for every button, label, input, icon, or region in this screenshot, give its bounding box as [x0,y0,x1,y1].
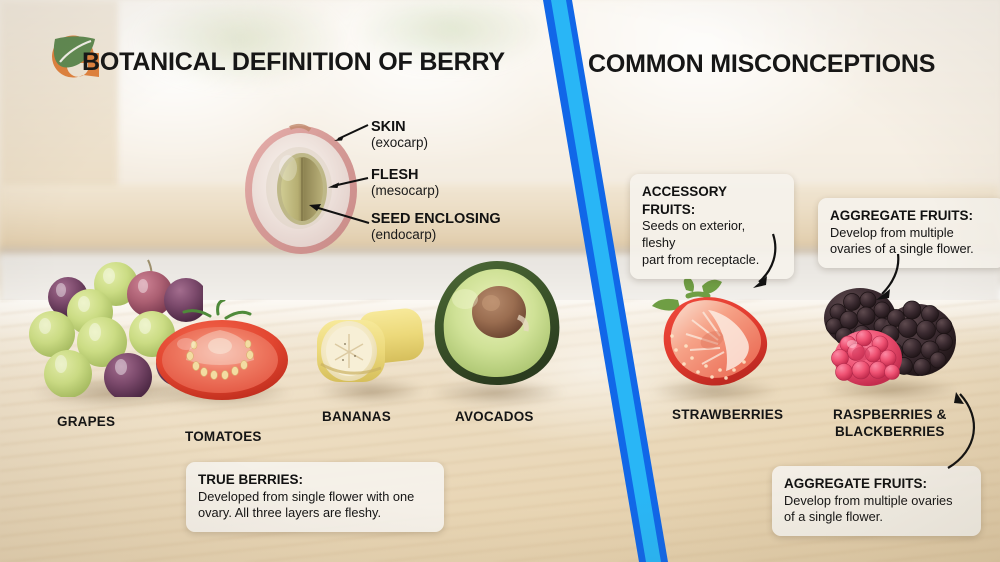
card-true-berries-line-1: Developed from single flower with one [198,489,432,506]
banana-pieces [315,298,430,393]
card-true-berries-heading: TRUE BERRIES: [198,471,432,489]
anatomy-flesh-title: FLESH [371,168,439,183]
page-title-left: BOTANICAL DEFINITION OF BERRY [82,48,505,77]
card-true-berries-line-2: ovary. All three layers are fleshy. [198,505,432,522]
arrow-aggregate-bottom-to-berries [930,390,990,472]
anatomy-arrow-seed [303,198,371,226]
anatomy-arrow-flesh [322,175,370,191]
fruit-label-grapes: GRAPES [57,414,115,431]
card-accessory-fruits-heading: ACCESSORY FRUITS: [642,183,782,218]
anatomy-seed-sub: (endocarp) [371,227,501,243]
fruit-label-bananas: BANANAS [322,409,391,426]
card-aggregate-fruits-bottom: AGGREGATE FRUITS: Develop from multiple … [772,466,981,536]
anatomy-label-seed: SEED ENCLOSING (endocarp) [371,212,501,243]
fruit-label-strawberries: STRAWBERRIES [672,407,783,424]
tomato-half [150,300,295,400]
page-title-right: COMMON MISCONCEPTIONS [588,50,935,79]
strawberry-half [648,278,793,396]
avocado-half [425,255,570,390]
fruit-label-avocados: AVOCADOS [455,409,534,426]
anatomy-arrow-skin [330,122,370,144]
anatomy-label-flesh: FLESH (mesocarp) [371,168,439,199]
card-true-berries: TRUE BERRIES: Developed from single flow… [186,462,444,532]
infographic-canvas: SKIN (exocarp) FLESH (mesocarp) SEED ENC… [0,0,1000,562]
arrow-aggregate-to-blackberry [862,252,910,304]
arrow-accessory-to-strawberry [735,232,785,294]
card-aggregate-top-line-2: ovaries of a single flower. [830,241,993,258]
anatomy-label-skin: SKIN (exocarp) [371,120,428,151]
card-aggregate-bottom-line-1: Develop from multiple ovaries [784,493,969,510]
card-aggregate-bottom-line-2: of a single flower. [784,509,969,526]
anatomy-skin-title: SKIN [371,120,428,135]
card-aggregate-top-line-1: Develop from multiple [830,225,993,242]
anatomy-flesh-sub: (mesocarp) [371,183,439,199]
card-aggregate-bottom-heading: AGGREGATE FRUITS: [784,475,969,493]
fruit-label-tomatoes: TOMATOES [185,429,262,446]
card-aggregate-top-heading: AGGREGATE FRUITS: [830,207,993,225]
anatomy-skin-sub: (exocarp) [371,135,428,151]
anatomy-seed-title: SEED ENCLOSING [371,212,501,227]
